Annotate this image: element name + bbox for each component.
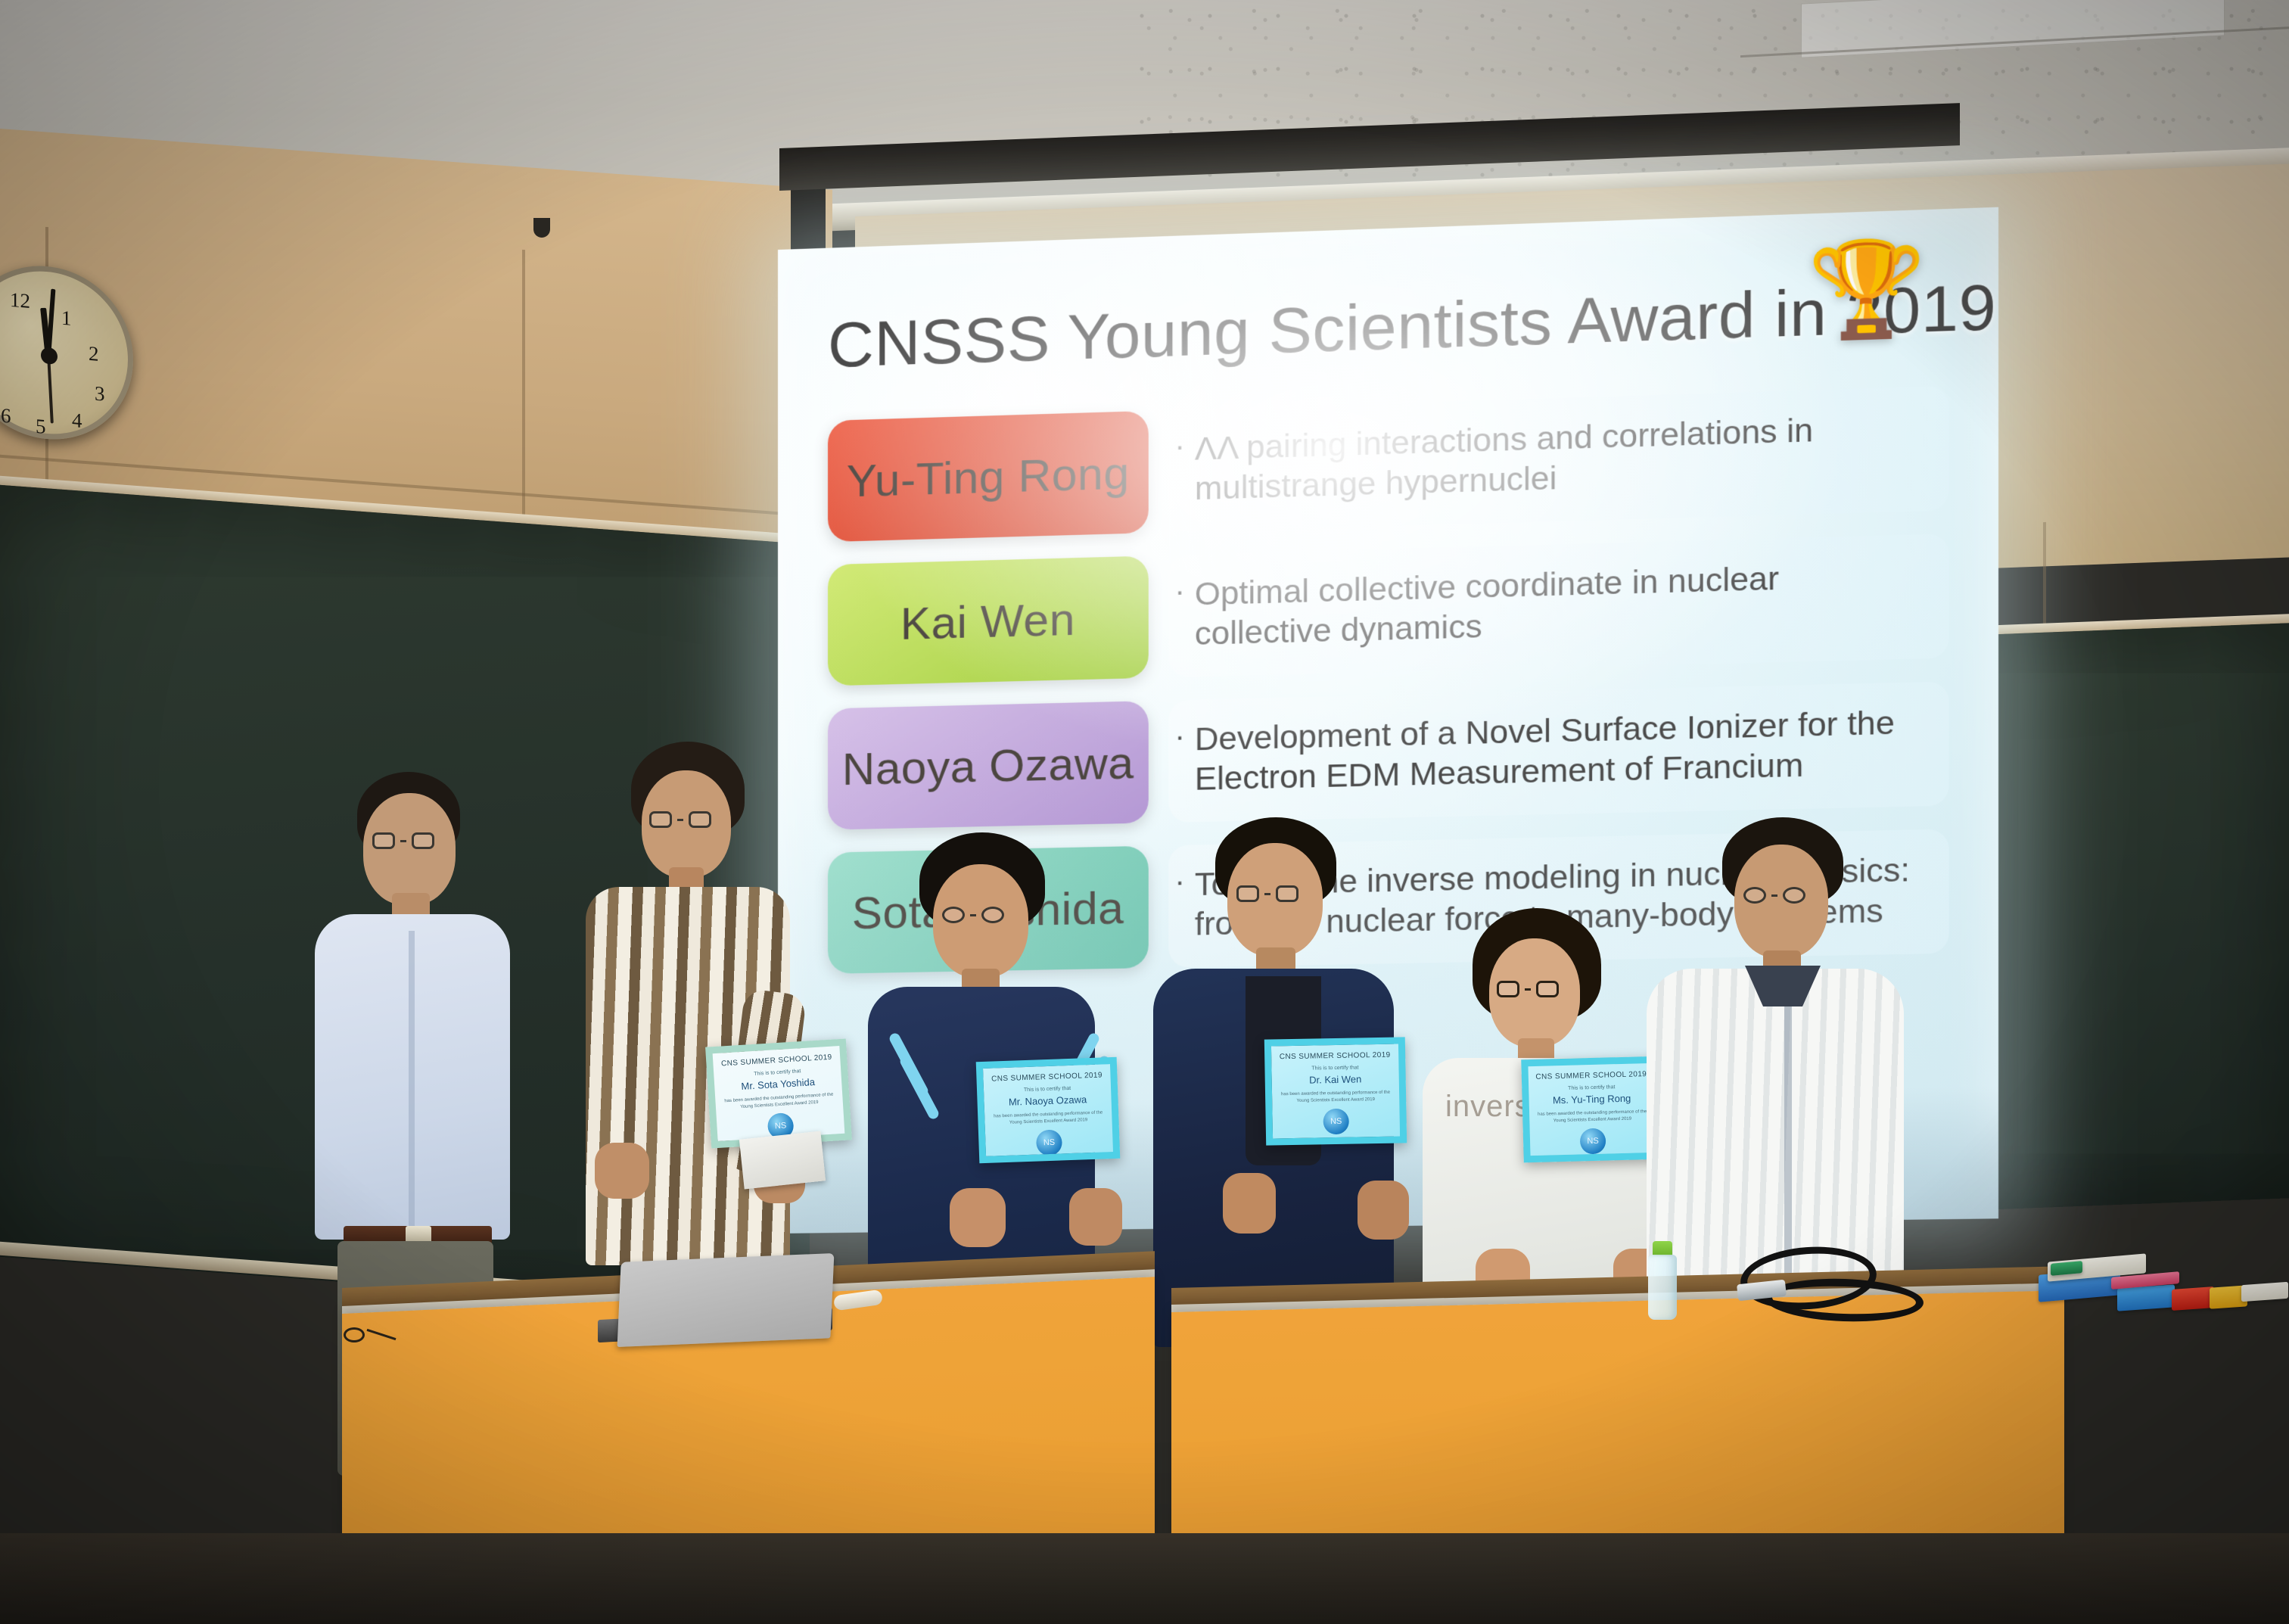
clock-center-cap (41, 347, 58, 365)
chalk-box-blue-2 (2117, 1284, 2175, 1311)
lens-left (1236, 885, 1259, 902)
certificate-header: CNS SUMMER SCHOOL 2019 (983, 1071, 1110, 1084)
envelope (739, 1131, 826, 1190)
clock-numeral: 2 (89, 342, 99, 366)
lens-right (1536, 981, 1559, 997)
award-row: Yu-Ting Rong · ΛΛ pairing interactions a… (828, 386, 1949, 542)
glasses-icon (1497, 981, 1559, 997)
award-row: Naoya Ozawa · Development of a Novel Sur… (828, 681, 1949, 829)
certificate-prefix: This is to certify that (1271, 1065, 1398, 1072)
glasses-icon (649, 811, 711, 828)
certificate-body: has been awarded the outstanding perform… (1529, 1109, 1655, 1125)
lens-left (649, 811, 672, 828)
bullet-icon: · (1174, 718, 1185, 756)
awardee-name-chip: Kai Wen (828, 555, 1149, 686)
hand-left (950, 1188, 1006, 1247)
glasses-bridge (1264, 893, 1270, 895)
photograph-scene: 11 12 1 2 3 4 5 6 CNSSS Young Scientists… (0, 0, 2289, 1624)
glasses-bridge (400, 840, 406, 842)
lens-right (689, 811, 711, 828)
lens-right (981, 907, 1004, 923)
bullet-icon: · (1174, 863, 1185, 901)
certificate-name: Dr. Kai Wen (1272, 1073, 1399, 1087)
trophy-icon: 🏆 (1808, 241, 1927, 338)
lens-left (942, 907, 965, 923)
award-description-text: Optimal collective coordinate in nuclear… (1195, 560, 1779, 652)
glasses-icon (1236, 885, 1298, 902)
glasses-icon (1743, 887, 1805, 904)
certificate-body: has been awarded the outstanding perform… (715, 1091, 843, 1112)
head (363, 793, 456, 905)
certificate-header: CNS SUMMER SCHOOL 2019 (1529, 1070, 1654, 1081)
award-description-text: ΛΛ pairing interactions and correlations… (1195, 412, 1813, 507)
awardee-name-chip: Yu-Ting Rong (828, 411, 1149, 542)
hand-right (1358, 1181, 1409, 1240)
award-description: · Optimal collective coordinate in nucle… (1168, 534, 1948, 677)
lens-right (412, 832, 434, 849)
hand-left (595, 1143, 649, 1199)
bottle-body (1648, 1255, 1677, 1320)
certificate-yoshida: CNS SUMMER SCHOOL 2019 This is to certif… (705, 1038, 852, 1148)
certificate-seal: NS (1323, 1109, 1349, 1135)
certificate-body: has been awarded the outstanding perform… (1272, 1090, 1399, 1106)
clock-numeral: 5 (36, 415, 46, 439)
certificate-header: CNS SUMMER SCHOOL 2019 (713, 1053, 840, 1069)
lens-left (1743, 887, 1766, 904)
chalk-box-white (2241, 1282, 2288, 1302)
slide-title: CNSSS Young Scientists Award in 2019 (828, 275, 1949, 377)
award-description: · ΛΛ pairing interactions and correlatio… (1168, 386, 1948, 532)
floor (0, 1533, 2289, 1624)
lens-right (1783, 887, 1805, 904)
glasses-icon (942, 907, 1004, 923)
certificate-prefix: This is to certify that (1529, 1084, 1654, 1092)
certificate-rong: CNS SUMMER SCHOOL 2019 This is to certif… (1521, 1056, 1662, 1163)
glasses-bridge (1525, 988, 1531, 991)
bullet-icon: · (1174, 573, 1185, 611)
glasses-bridge (970, 914, 976, 916)
hand-right (1069, 1188, 1122, 1246)
lens-left (372, 832, 395, 849)
clock-numeral: 12 (10, 288, 30, 313)
glasses-bridge (1771, 894, 1777, 897)
certificate-seal: NS (1036, 1129, 1062, 1156)
clock-numeral: 6 (1, 404, 11, 428)
certificate-body: has been awarded the outstanding perform… (984, 1109, 1112, 1128)
certificate-name: Mr. Naoya Ozawa (984, 1093, 1111, 1109)
certificate-wen: CNS SUMMER SCHOOL 2019 This is to certif… (1264, 1037, 1407, 1145)
bottle-cap (1653, 1241, 1672, 1256)
glasses-icon (372, 832, 434, 849)
shirt-placket (409, 931, 415, 1226)
certificate-header: CNS SUMMER SCHOOL 2019 (1271, 1051, 1398, 1062)
certificate-ozawa: CNS SUMMER SCHOOL 2019 This is to certif… (976, 1057, 1121, 1163)
laptop-lid (617, 1253, 835, 1347)
award-row: Kai Wen · Optimal collective coordinate … (828, 534, 1949, 686)
certificate-seal: NS (1580, 1128, 1606, 1155)
glasses-bridge (677, 819, 683, 821)
wall-seam-b (522, 250, 525, 552)
clock-numeral: 4 (72, 409, 82, 433)
hand-left (1223, 1173, 1276, 1234)
lens-left (1497, 981, 1519, 997)
awardee-name-chip: Naoya Ozawa (828, 701, 1149, 829)
ceiling-sensor-icon (533, 218, 550, 238)
clock-numeral: 1 (61, 306, 72, 331)
award-description: · Development of a Novel Surface Ionizer… (1168, 681, 1948, 823)
bullet-icon: · (1174, 428, 1185, 466)
chalkboard-right (1960, 623, 2289, 1211)
chalk-box-red (2172, 1286, 2214, 1311)
clock-numeral: 3 (95, 382, 105, 406)
lens-right (1276, 885, 1298, 902)
award-description-text: Development of a Novel Surface Ionizer f… (1195, 705, 1895, 798)
certificate-name: Ms. Yu-Ting Rong (1529, 1092, 1654, 1106)
eyeglasses-on-podium-icon (344, 1326, 404, 1353)
